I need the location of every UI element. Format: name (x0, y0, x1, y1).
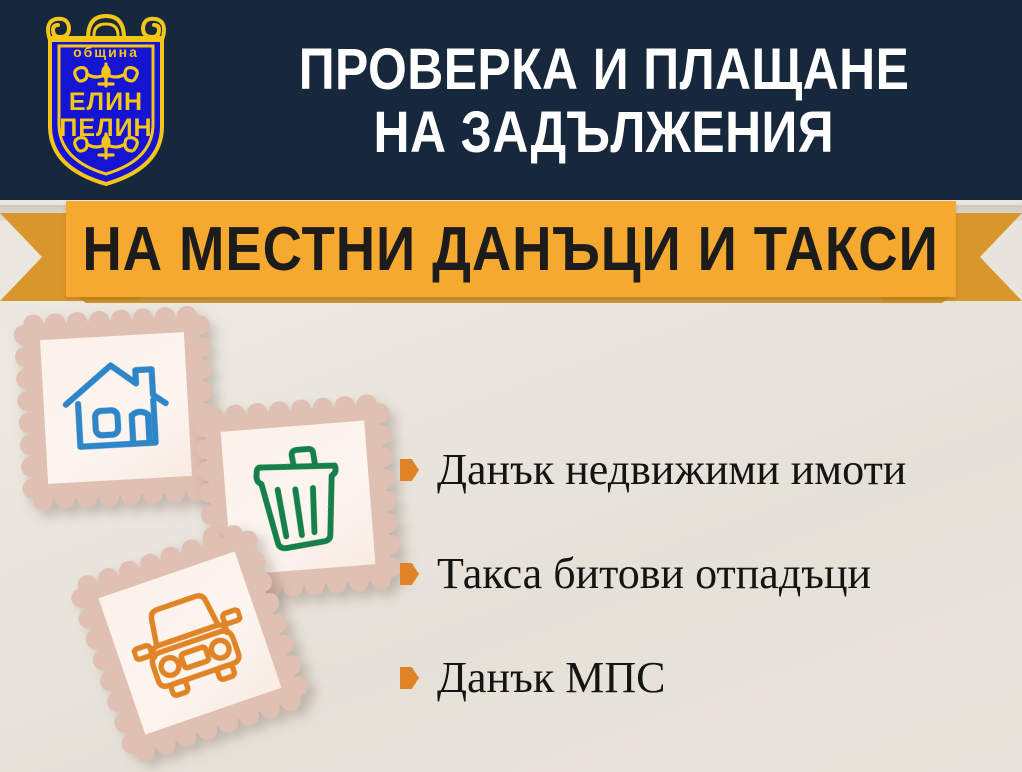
tax-type-list: Данък недвижими имоти Такса битови отпад… (400, 418, 1012, 730)
header-title-line-2: НА ЗАДЪЛЖЕНИЯ (374, 102, 835, 165)
list-item[interactable]: Такса битови отпадъци (400, 522, 1012, 626)
logo-line-elin: ЕЛИН (28, 90, 184, 116)
header-title: ПРОВЕРКА И ПЛАЩАНЕ НА ЗАДЪЛЖЕНИЯ (186, 12, 1022, 192)
list-item[interactable]: Данък МПС (400, 626, 1012, 730)
stamp-house (13, 305, 220, 512)
subtitle-ribbon: НА МЕСТНИ ДАНЪЦИ И ТАКСИ (0, 199, 1022, 307)
house-icon (40, 332, 192, 484)
stamp-collage (0, 300, 420, 772)
ribbon-label: НА МЕСТНИ ДАНЪЦИ И ТАКСИ (83, 214, 939, 285)
list-item[interactable]: Данък недвижими имоти (400, 418, 1012, 522)
list-item-label: Данък МПС (437, 656, 665, 700)
ribbon-banner: НА МЕСТНИ ДАНЪЦИ И ТАКСИ (66, 201, 956, 297)
header-bar: община ЕЛИН ПЕЛИН ПРОВЕРКА И ПЛАЩАНЕ НА … (0, 0, 1022, 200)
logo-line-pelin: ПЕЛИН (28, 116, 184, 142)
header-title-line-1: ПРОВЕРКА И ПЛАЩАНЕ (299, 39, 910, 102)
poster-canvas: община ЕЛИН ПЕЛИН ПРОВЕРКА И ПЛАЩАНЕ НА … (0, 0, 1022, 772)
list-item-label: Данък недвижими имоти (437, 448, 906, 492)
logo-line-obshtina: община (28, 44, 184, 60)
arrow-bullet-icon (400, 667, 419, 689)
municipality-logo: община ЕЛИН ПЕЛИН (28, 8, 184, 190)
arrow-bullet-icon (400, 459, 419, 481)
arrow-bullet-icon (400, 563, 419, 585)
list-item-label: Такса битови отпадъци (437, 552, 871, 596)
